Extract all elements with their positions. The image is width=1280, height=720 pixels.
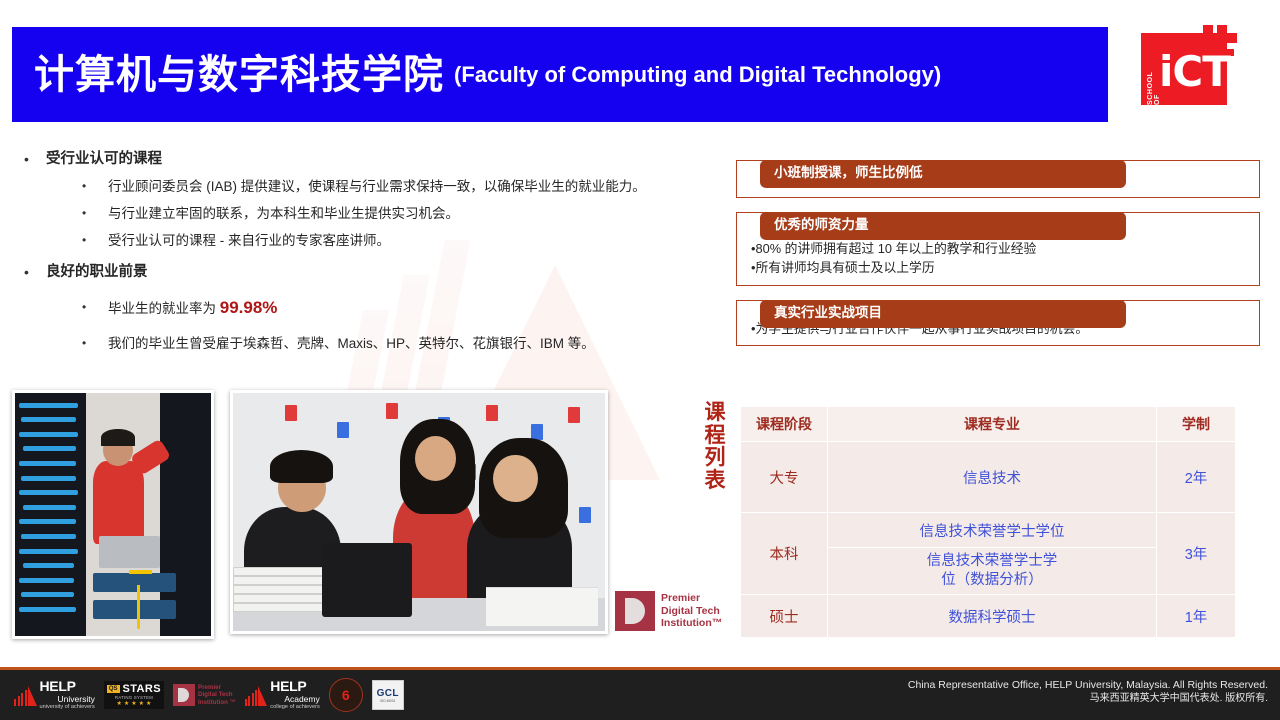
page-title-cn: 计算机与数字科技学院 — [34, 55, 444, 95]
premier-d-icon — [615, 591, 655, 631]
cell-major: 信息技术 — [828, 442, 1157, 513]
copyright-english: China Representative Office, HELP Univer… — [908, 678, 1268, 692]
server-room-student-photo — [12, 390, 214, 639]
employment-rate-value: 99.98% — [220, 298, 278, 317]
ict-wordmark: iCT — [1159, 51, 1230, 93]
bullet-level2: • 受行业认可的课程 - 来自行业的专家客座讲师。 — [82, 230, 704, 251]
bullet-marker: • — [24, 148, 46, 170]
premier-line-3: Institution ™ — [198, 699, 236, 706]
qs-badge: QS — [107, 685, 120, 693]
six-star-outstanding-logo: 6 — [329, 678, 363, 712]
six-star-number: 6 — [342, 687, 350, 703]
bullet-marker: • — [82, 333, 108, 354]
bullet-marker: • — [82, 176, 108, 197]
bullet-marker: • — [82, 203, 108, 224]
students-studying-photo — [230, 390, 608, 634]
cell-major: 信息技术荣誉学士学 位（数据分析） — [828, 548, 1157, 595]
bullet-marker: • — [82, 297, 108, 318]
cell-major: 信息技术荣誉学士学位 — [828, 513, 1157, 548]
qs-stars-logo: QS STARS RATING SYSTEM ★★★★★ — [104, 678, 164, 712]
bullet-level2-employment-rate: • 毕业生的就业率为 99.98% — [82, 297, 704, 319]
bullet-text: 受行业认可的课程 — [46, 148, 162, 170]
help-academy-logo: HELP Academy college of achievers — [245, 678, 320, 712]
bullet-text: 我们的毕业生曾受雇于埃森哲、壳牌、Maxis、HP、英特尔、花旗银行、IBM 等… — [108, 333, 595, 354]
copyright-chinese: 马来西亚精英大学中国代表处. 版权所有. — [908, 692, 1268, 706]
bullet-level1: • 受行业认可的课程 — [24, 148, 704, 170]
bullet-text: 行业顾问委员会 (IAB) 提供建议，使课程与行业需求保持一致，以确保毕业生的就… — [108, 176, 646, 197]
cell-duration: 2年 — [1157, 442, 1236, 513]
help-tagline: college of achievers — [270, 705, 319, 711]
page-title-en: (Faculty of Computing and Digital Techno… — [454, 64, 941, 86]
stars-subtitle: RATING SYSTEM — [107, 695, 161, 700]
bullet-text: 毕业生的就业率为 99.98% — [108, 297, 277, 319]
cell-major: 数据科学硕士 — [828, 595, 1157, 638]
help-sub: University — [40, 695, 95, 704]
premier-d-icon — [173, 684, 195, 706]
cell-stage: 本科 — [741, 513, 828, 595]
bullet-text: 受行业认可的课程 - 来自行业的专家客座讲师。 — [108, 230, 390, 251]
school-of-ict-logo: SCHOOL OF iCT — [1141, 25, 1241, 105]
cell-stage: 硕士 — [741, 595, 828, 638]
table-row: 本科 信息技术荣誉学士学位 3年 — [741, 513, 1236, 548]
gcl-sub: ISO 45001 — [380, 699, 395, 703]
course-list-table: 课程阶段 课程专业 学制 大专 信息技术 2年 本科 信息技术荣誉学士学位 3年… — [740, 406, 1236, 638]
callout-title: 优秀的师资力量 — [760, 212, 1126, 240]
bullet-text: 良好的职业前景 — [46, 261, 148, 283]
premier-digital-tech-badge: Premier Digital Tech Institution™ — [615, 587, 741, 635]
column-header-duration: 学制 — [1157, 407, 1236, 442]
callout-title: 小班制授课，师生比例低 — [760, 160, 1126, 188]
slide-footer: HELP University university of achievers … — [0, 670, 1280, 720]
premier-digital-tech-logo: Premier Digital Tech Institution ™ — [173, 678, 236, 712]
help-flame-icon — [245, 684, 268, 706]
bullet-level2: • 行业顾问委员会 (IAB) 提供建议，使课程与行业需求保持一致，以确保毕业生… — [82, 176, 704, 197]
bullet-level2: • 我们的毕业生曾受雇于埃森哲、壳牌、Maxis、HP、英特尔、花旗银行、IBM… — [82, 333, 704, 354]
premier-line-1: Premier — [661, 592, 722, 604]
bullet-level2: • 与行业建立牢固的联系，为本科生和毕业生提供实习机会。 — [82, 203, 704, 224]
callout-line: •所有讲师均具有硕士及以上学历 — [737, 258, 1259, 277]
help-flame-icon — [14, 684, 37, 706]
help-brand: HELP — [40, 678, 76, 694]
gcl-logo: GCL ISO 45001 — [372, 678, 404, 712]
bullet-text: 与行业建立牢固的联系，为本科生和毕业生提供实习机会。 — [108, 203, 459, 224]
help-brand: HELP — [270, 678, 306, 694]
premier-line-2: Digital Tech — [198, 691, 236, 698]
table-row: 大专 信息技术 2年 — [741, 442, 1236, 513]
callout-line: •80% 的讲师拥有超过 10 年以上的教学和行业经验 — [737, 239, 1259, 258]
stars-rating: ★★★★★ — [107, 701, 161, 707]
presentation-slide: 计算机与数字科技学院 (Faculty of Computing and Dig… — [0, 0, 1280, 720]
help-university-logo: HELP University university of achievers — [14, 678, 95, 712]
table-row: 硕士 数据科学硕士 1年 — [741, 595, 1236, 638]
cell-duration: 1年 — [1157, 595, 1236, 638]
footer-copyright: China Representative Office, HELP Univer… — [908, 678, 1268, 706]
callout-small-class: 小班制授课，师生比例低 — [736, 160, 1260, 198]
callout-faculty-quality: 优秀的师资力量 •80% 的讲师拥有超过 10 年以上的教学和行业经验 •所有讲… — [736, 212, 1260, 286]
help-sub: Academy — [270, 695, 319, 704]
bullet-marker: • — [82, 230, 108, 251]
bullet-level1: • 良好的职业前景 — [24, 261, 704, 283]
highlight-callouts: 小班制授课，师生比例低 优秀的师资力量 •80% 的讲师拥有超过 10 年以上的… — [736, 146, 1260, 356]
bullet-marker: • — [24, 261, 46, 283]
premier-line-3: Institution™ — [661, 617, 722, 629]
table-header-row: 课程阶段 课程专业 学制 — [741, 407, 1236, 442]
cell-stage: 大专 — [741, 442, 828, 513]
cell-duration: 3年 — [1157, 513, 1236, 595]
callout-title: 真实行业实战项目 — [760, 300, 1126, 328]
premier-line-2: Digital Tech — [661, 605, 722, 617]
footer-logo-row: HELP University university of achievers … — [14, 676, 404, 714]
column-header-stage: 课程阶段 — [741, 407, 828, 442]
employment-rate-label: 毕业生的就业率为 — [108, 301, 220, 316]
premier-badge-text: Premier Digital Tech Institution™ — [661, 592, 722, 629]
course-list-vertical-label: 课 程 列 表 — [698, 402, 732, 493]
stars-word: STARS — [123, 683, 161, 695]
premier-line-1: Premier — [198, 684, 236, 691]
features-bullet-list: • 受行业认可的课程 • 行业顾问委员会 (IAB) 提供建议，使课程与行业需求… — [24, 148, 704, 360]
help-tagline: university of achievers — [40, 705, 95, 711]
column-header-major: 课程专业 — [828, 407, 1157, 442]
callout-real-projects: 真实行业实战项目 •为学生提供与行业合作伙伴一起从事行业实战项目的机会。 — [736, 300, 1260, 346]
gcl-word: GCL — [377, 688, 399, 699]
slide-title-bar: 计算机与数字科技学院 (Faculty of Computing and Dig… — [12, 27, 1108, 122]
